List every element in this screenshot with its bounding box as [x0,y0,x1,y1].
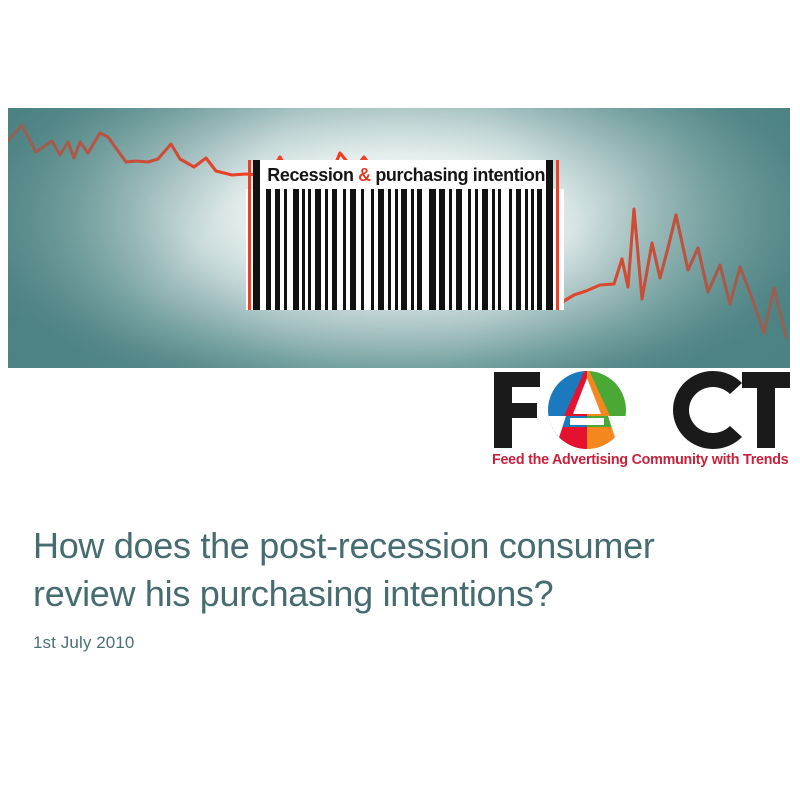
barcode-bar [449,189,452,310]
barcode-bar [293,189,299,310]
barcode-bar [350,189,356,310]
barcode-bar [315,189,321,310]
fact-logo-tagline: Feed the Advertising Community with Tren… [492,452,792,468]
a-mark-white-crossbar-gap [570,418,604,425]
barcode-bar [332,189,337,310]
barcode-right-red-guard [556,160,559,310]
barcode-bar [482,189,488,310]
barcode-bar [308,189,311,310]
barcode-bar [378,189,384,310]
barcode-bar [411,189,414,310]
fact-logo-a-mark [548,370,626,450]
barcode-bar [498,189,501,310]
fact-logo-letter-c [673,371,742,449]
barcode-bars [246,189,564,310]
banner-image: Recession & purchasing intention [8,108,790,368]
fact-logo: Feed the Advertising Community with Tren… [490,370,792,478]
barcode-bar [475,189,478,310]
barcode-right-guard [546,160,553,310]
fact-logo-letter-f [494,372,540,448]
barcode-bar [401,189,407,310]
barcode-bar [456,189,462,310]
barcode-label-ampersand: & [358,164,371,185]
title-block: How does the post-recession consumer rev… [33,522,773,653]
barcode-left-red-guard [248,160,251,310]
barcode-bar [395,189,398,310]
page-title-line-1: How does the post-recession consumer [33,525,655,566]
barcode-bar [361,189,364,310]
barcode-label-text-after: purchasing intention [371,164,545,185]
barcode-bar [417,189,422,310]
barcode-graphic: Recession & purchasing intention [246,160,564,310]
barcode-bar [531,189,534,310]
right-trend-line [564,209,786,337]
barcode-bar [284,189,287,310]
barcode-bar [388,189,391,310]
fact-logo-letters [490,370,792,450]
barcode-label: Recession & purchasing intention [260,160,552,189]
page-title: How does the post-recession consumer rev… [33,522,773,618]
barcode-bar [325,189,328,310]
fact-logo-letter-t [742,372,790,448]
barcode-label-text-before: Recession [267,164,358,185]
barcode-bar [439,189,445,310]
slide-date: 1st July 2010 [33,633,773,653]
barcode-bar [302,189,305,310]
barcode-bar [516,189,521,310]
page-title-line-2: review his purchasing intentions? [33,573,553,614]
barcode-bar [343,189,346,310]
barcode-bar [266,189,271,310]
barcode-bar [525,189,528,310]
barcode-left-guard [253,160,260,310]
barcode-bar [429,189,436,310]
barcode-bar [492,189,495,310]
barcode-bar [537,189,542,310]
slide-root: Recession & purchasing intention [0,0,800,800]
barcode-bar [275,189,280,310]
barcode-bar [371,189,374,310]
barcode-bar [509,189,512,310]
barcode-bar [468,189,471,310]
